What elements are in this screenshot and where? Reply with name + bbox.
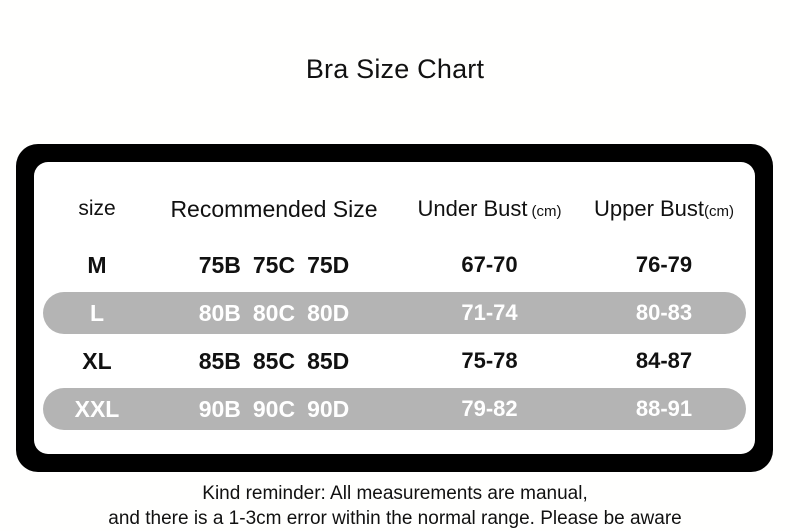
table-row: L 80B 80C 80D 71-74 80-83: [43, 292, 746, 334]
row-upper-bust: 76-79: [582, 252, 746, 278]
row-recommended-sizes: 85B 85C 85D: [151, 348, 397, 375]
row-size-label: L: [43, 300, 151, 327]
recommended-size-item: 75C: [253, 252, 295, 279]
row-under-bust: 67-70: [397, 252, 582, 278]
header-under-bust: Under Bust(cm): [397, 196, 582, 222]
header-recommended-size: Recommended Size: [151, 196, 397, 223]
recommended-size-item: 75B: [199, 252, 241, 279]
recommended-size-item: 75D: [307, 252, 349, 279]
size-chart-table: size Recommended Size Under Bust(cm) Upp…: [34, 162, 755, 454]
row-under-bust: 79-82: [397, 396, 582, 422]
row-recommended-sizes: 90B 90C 90D: [151, 396, 397, 423]
row-recommended-sizes: 80B 80C 80D: [151, 300, 397, 327]
row-size-label: XXL: [43, 396, 151, 423]
footer-note-line-1: Kind reminder: All measurements are manu…: [0, 481, 790, 506]
row-size-label: XL: [43, 348, 151, 375]
recommended-size-item: 80C: [253, 300, 295, 327]
row-under-bust: 71-74: [397, 300, 582, 326]
header-upper-bust: Upper Bust(cm): [582, 196, 746, 222]
header-upper-bust-label: Upper Bust: [594, 196, 704, 221]
recommended-size-item: 85C: [253, 348, 295, 375]
recommended-size-item: 80B: [199, 300, 241, 327]
recommended-size-item: 80D: [307, 300, 349, 327]
footer-note-line-2: and there is a 1-3cm error within the no…: [0, 506, 790, 531]
row-recommended-sizes: 75B 75C 75D: [151, 252, 397, 279]
recommended-size-item: 90C: [253, 396, 295, 423]
row-under-bust: 75-78: [397, 348, 582, 374]
footer-note: Kind reminder: All measurements are manu…: [0, 481, 790, 531]
row-upper-bust: 84-87: [582, 348, 746, 374]
header-upper-bust-unit: (cm): [704, 203, 734, 220]
recommended-size-item: 85B: [199, 348, 241, 375]
recommended-size-item: 85D: [307, 348, 349, 375]
table-row: XL 85B 85C 85D 75-78 84-87: [43, 340, 746, 382]
recommended-size-item: 90B: [199, 396, 241, 423]
header-size: size: [43, 197, 151, 221]
recommended-size-item: 90D: [307, 396, 349, 423]
header-under-bust-unit: (cm): [532, 203, 562, 220]
table-row: M 75B 75C 75D 67-70 76-79: [43, 244, 746, 286]
table-header-row: size Recommended Size Under Bust(cm) Upp…: [43, 192, 746, 226]
header-under-bust-label: Under Bust: [417, 196, 527, 221]
row-upper-bust: 88-91: [582, 396, 746, 422]
row-size-label: M: [43, 252, 151, 279]
row-upper-bust: 80-83: [582, 300, 746, 326]
table-row: XXL 90B 90C 90D 79-82 88-91: [43, 388, 746, 430]
size-chart-frame: size Recommended Size Under Bust(cm) Upp…: [16, 144, 773, 472]
page-title: Bra Size Chart: [0, 54, 790, 85]
